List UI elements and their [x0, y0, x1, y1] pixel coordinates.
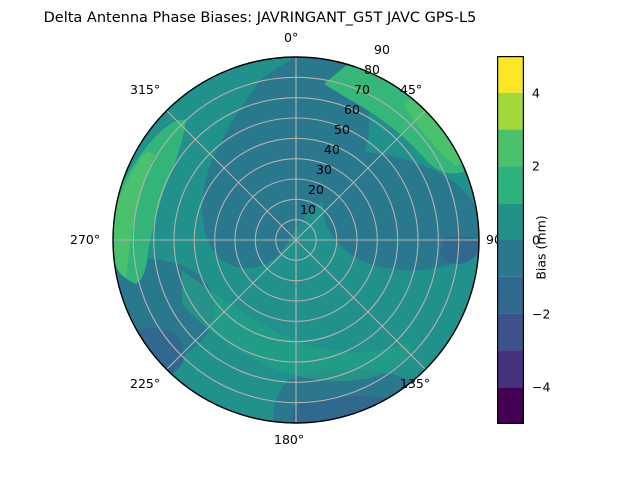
radial-tick-10: 10: [300, 202, 316, 217]
figure-canvas: Delta Antenna Phase Biases: JAVRINGANT_G…: [0, 0, 640, 480]
radial-tick-60: 60: [344, 102, 360, 117]
colorbar[interactable]: [497, 56, 524, 424]
radial-tick-30: 30: [316, 162, 332, 177]
angular-tick-135: 135°: [400, 376, 430, 391]
polar-axes[interactable]: 0° 45° 90 135° 180° 225° 270° 315° 10 20…: [112, 56, 480, 424]
angular-tick-315: 315°: [130, 82, 160, 97]
angular-tick-45: 45°: [400, 82, 422, 97]
colorbar-tick-minus2: −2: [532, 306, 550, 321]
angular-tick-180: 180°: [274, 432, 304, 447]
radial-tick-20: 20: [308, 182, 324, 197]
radial-tick-50: 50: [334, 122, 350, 137]
angular-gridlines: [113, 57, 479, 423]
colorbar-svg: [497, 56, 524, 424]
radial-tick-90: 90: [374, 42, 390, 57]
chart-title: Delta Antenna Phase Biases: JAVRINGANT_G…: [0, 10, 520, 26]
radial-tick-70: 70: [354, 82, 370, 97]
angular-tick-270: 270°: [70, 232, 100, 247]
colorbar-tick-minus4: −4: [532, 380, 550, 395]
angular-tick-0: 0°: [284, 30, 298, 45]
angular-tick-225: 225°: [130, 376, 160, 391]
polar-plot-svg: [112, 56, 480, 424]
radial-tick-40: 40: [324, 142, 340, 157]
colorbar-title: Bias (mm): [534, 215, 549, 279]
radial-tick-80: 80: [364, 62, 380, 77]
colorbar-tick-2: 2: [532, 159, 540, 174]
colorbar-bands: [497, 56, 524, 424]
colorbar-tick-4: 4: [532, 85, 540, 100]
